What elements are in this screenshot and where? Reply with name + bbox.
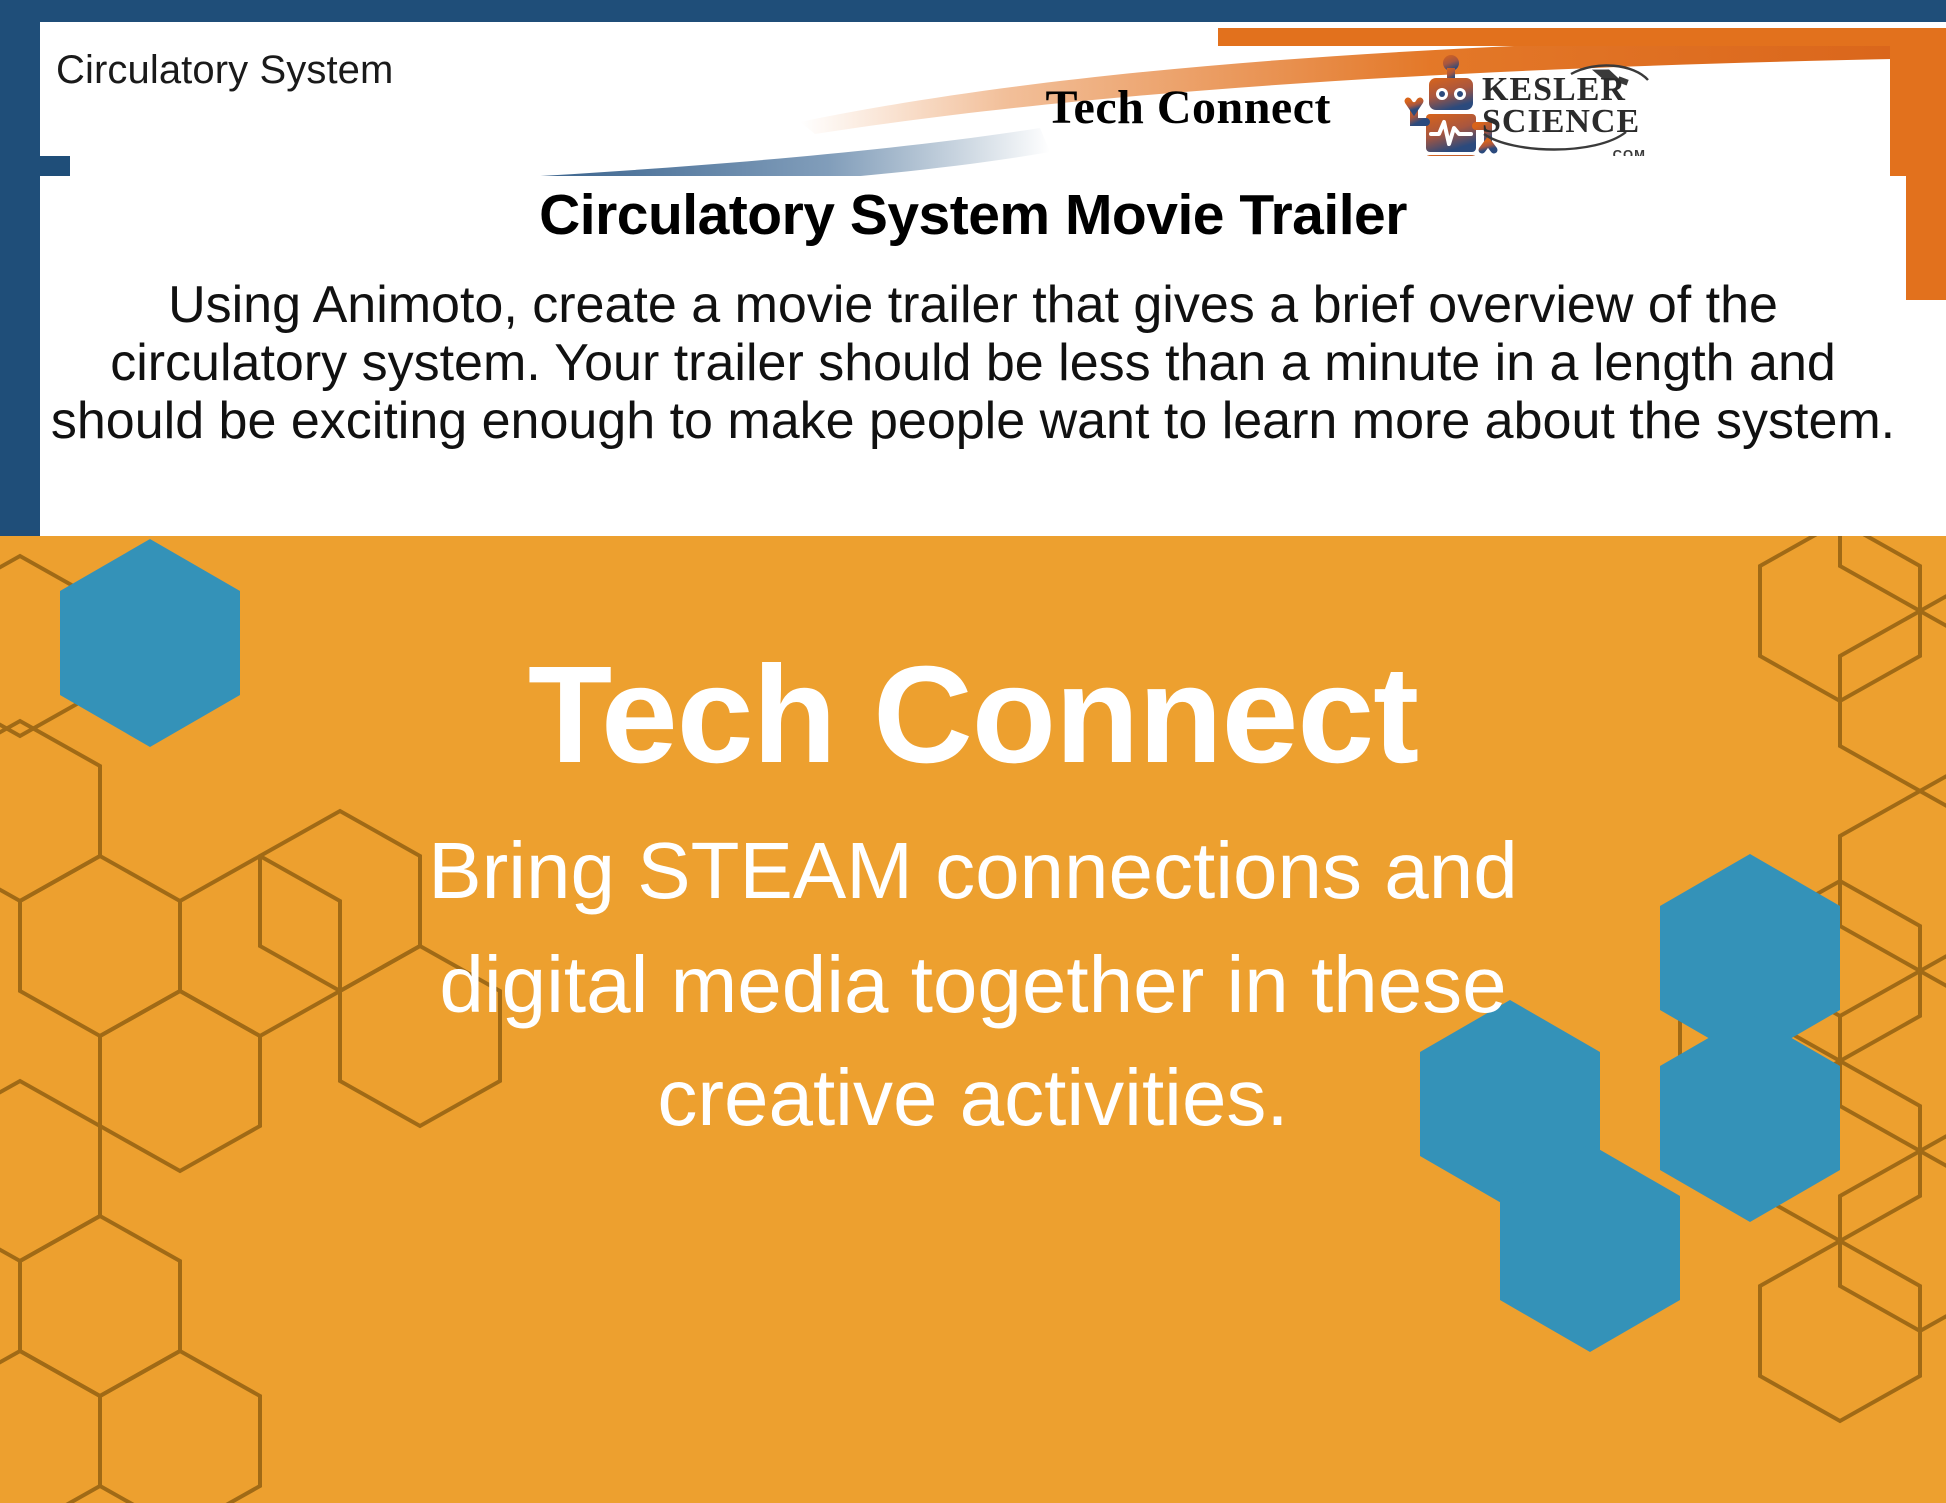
banner-title: Tech Connect bbox=[0, 646, 1946, 784]
banner-subtitle-line-1: Bring STEAM connections and bbox=[160, 814, 1786, 928]
activity-title: Circulatory System Movie Trailer bbox=[40, 182, 1906, 248]
tech-connect-wordmark: Tech Connect bbox=[1045, 80, 1331, 135]
content-card: Circulatory System Movie Trailer Using A… bbox=[40, 176, 1906, 536]
blue-top-bar bbox=[0, 0, 1946, 22]
kesler-line-2: SCIENCE bbox=[1482, 106, 1640, 138]
banner-subtitle-line-3: creative activities. bbox=[160, 1041, 1786, 1155]
kesler-tld: .COM bbox=[1608, 147, 1646, 156]
activity-description: Using Animoto, create a movie trailer th… bbox=[40, 276, 1906, 451]
banner-subtitle-line-2: digital media together in these bbox=[160, 928, 1786, 1042]
kesler-science-text: KESLER SCIENCE bbox=[1482, 74, 1640, 139]
kesler-science-logo: KESLER SCIENCE .COM bbox=[1476, 56, 1656, 156]
tech-connect-banner: Tech Connect Bring STEAM connections and… bbox=[0, 536, 1946, 1503]
kesler-line-1: KESLER bbox=[1482, 74, 1640, 106]
top-section: Circulatory System Tech Connect bbox=[0, 0, 1946, 536]
slide-canvas: Circulatory System Tech Connect bbox=[0, 0, 1946, 1503]
orange-frame-top bbox=[1218, 28, 1946, 46]
blue-left-rail bbox=[0, 0, 40, 536]
banner-subtitle: Bring STEAM connections and digital medi… bbox=[160, 814, 1786, 1155]
blue-mid-connector bbox=[0, 156, 70, 176]
page-title: Circulatory System bbox=[56, 48, 393, 93]
